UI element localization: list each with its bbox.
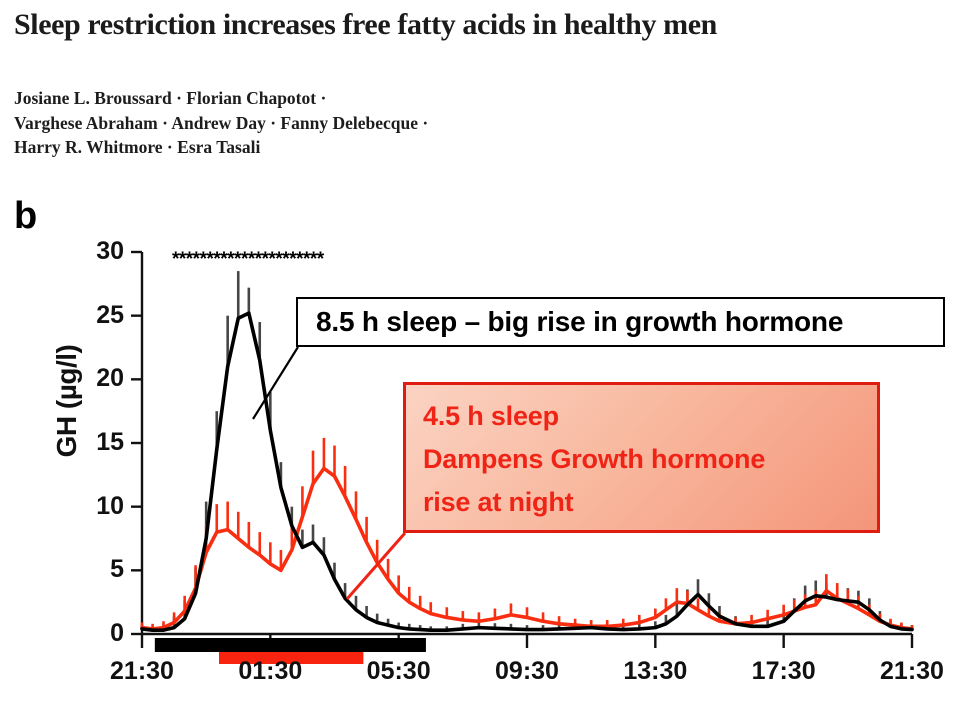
- slide-page: Sleep restriction increases free fatty a…: [0, 0, 968, 714]
- x-tick-label: 01:30: [215, 657, 325, 686]
- x-tick-label: 21:30: [87, 657, 197, 686]
- x-tick-label: 17:30: [729, 657, 839, 686]
- y-axis-title: GH (µg/l): [51, 306, 83, 496]
- x-tick-label: 09:30: [472, 657, 582, 686]
- y-tick-label: 25: [78, 301, 124, 330]
- callout-box-8h-sleep: 8.5 h sleep – big rise in growth hormone: [296, 297, 945, 347]
- x-tick-label: 13:30: [600, 657, 710, 686]
- y-tick-label: 0: [78, 619, 124, 648]
- y-tick-label: 30: [78, 237, 124, 266]
- gh-time-series-chart: GH (µg/l) 051015202530 21:3001:3005:3009…: [0, 0, 968, 714]
- callout-red-line: rise at night: [423, 481, 877, 524]
- x-tick-label: 21:30: [857, 657, 967, 686]
- y-tick-label: 20: [78, 364, 124, 393]
- callout-black-label: 8.5 h sleep – big rise in growth hormone: [316, 306, 843, 338]
- sleep-bar-8h: [155, 638, 426, 652]
- y-tick-label: 15: [78, 428, 124, 457]
- x-tick-label: 05:30: [344, 657, 454, 686]
- y-tick-label: 5: [78, 555, 124, 584]
- callout-box-4h-sleep: 4.5 h sleep Dampens Growth hormone rise …: [403, 382, 880, 533]
- y-tick-label: 10: [78, 492, 124, 521]
- chart-canvas: [0, 0, 968, 714]
- callout-red-line: Dampens Growth hormone: [423, 438, 877, 481]
- callout-red-line: 4.5 h sleep: [423, 395, 877, 438]
- significance-stars: **********************: [172, 249, 324, 271]
